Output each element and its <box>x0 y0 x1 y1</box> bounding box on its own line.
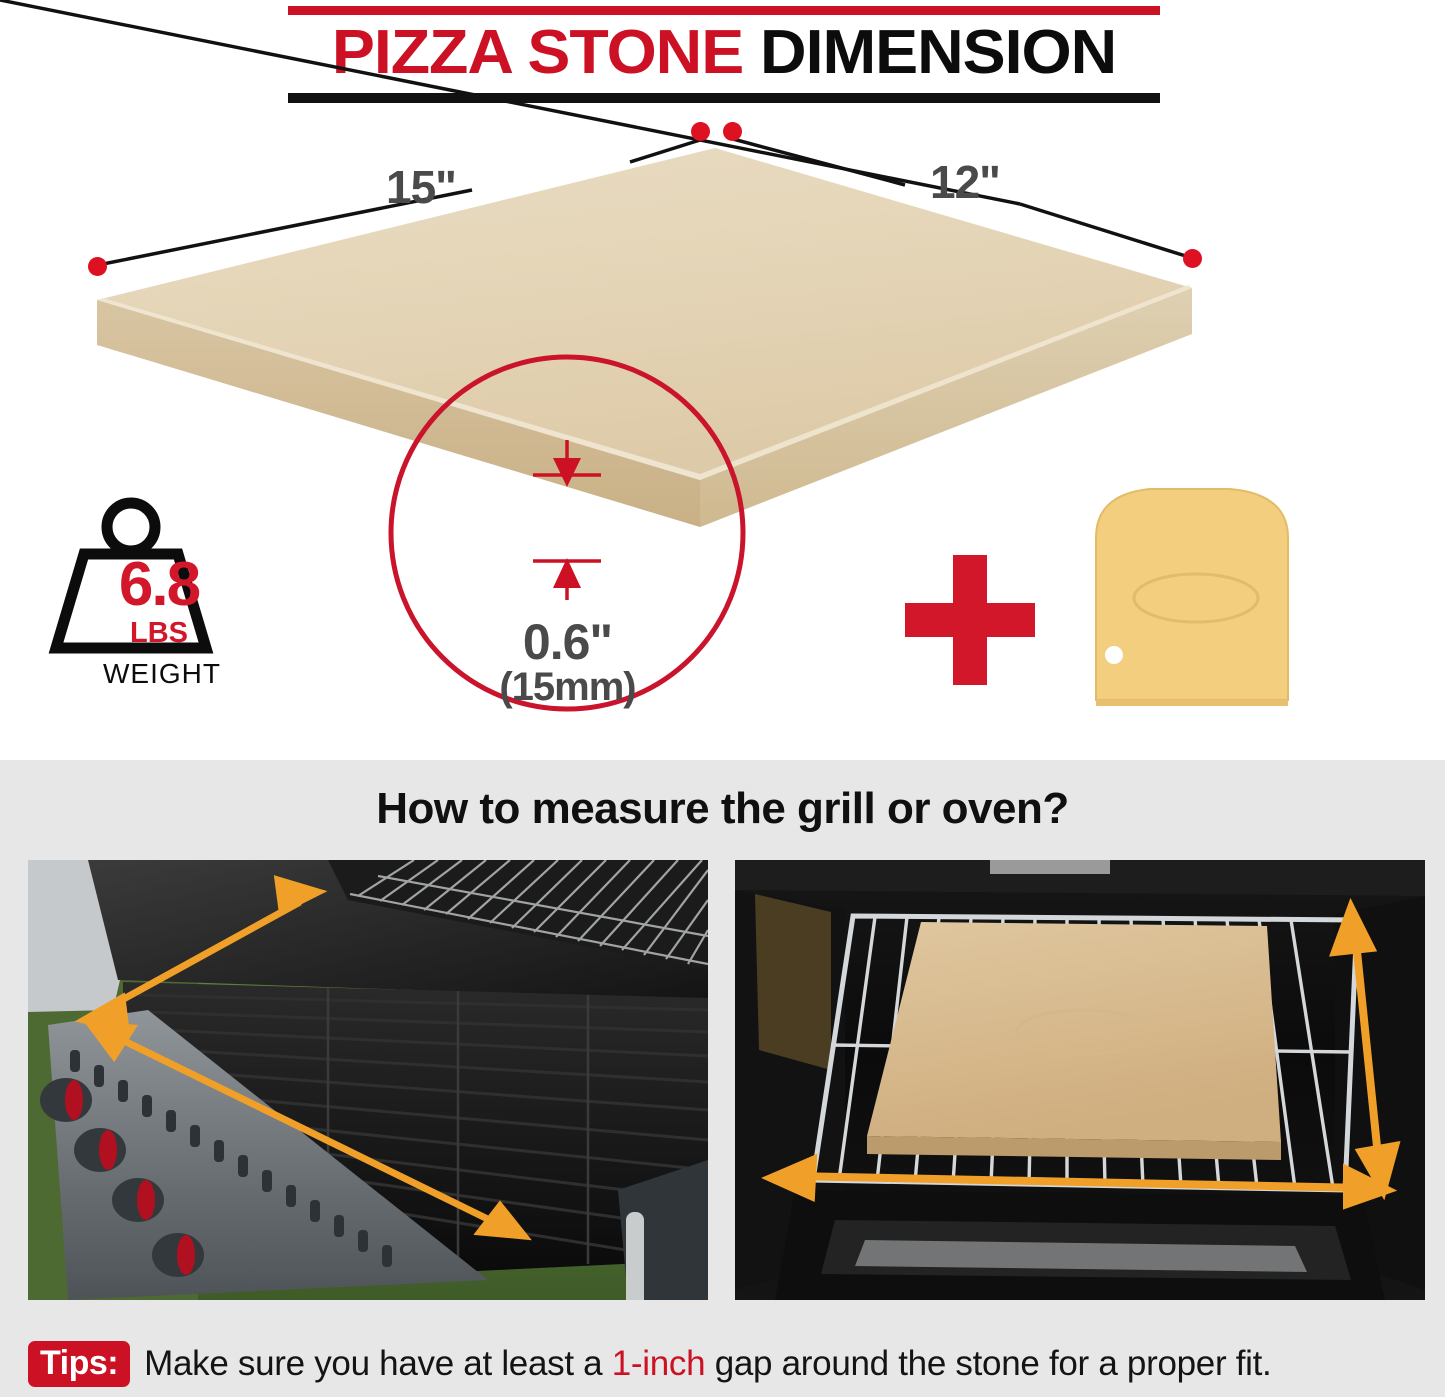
weight-caption: WEIGHT <box>66 658 258 690</box>
tips-text-after: gap around the stone for a proper fit. <box>705 1344 1271 1383</box>
grill-photo <box>28 860 708 1300</box>
tips-badge: Tips: <box>28 1341 130 1387</box>
weight-badge: 6.8 LBS WEIGHT <box>66 505 266 695</box>
width-endpoint-dot-left <box>723 122 742 141</box>
oven-photo <box>735 860 1425 1300</box>
dough-scraper-icon <box>1096 489 1288 706</box>
thickness-mm-label: (15mm) <box>445 665 690 710</box>
dimension-section: PIZZA STONE DIMENSION <box>0 0 1445 760</box>
tips-highlight: 1-inch <box>612 1344 706 1383</box>
width-leader-line-right-a <box>0 0 1020 204</box>
length-endpoint-dot-right <box>691 122 710 141</box>
width-endpoint-dot-right <box>1183 249 1202 268</box>
tips-text: Make sure you have at least a 1-inch gap… <box>144 1344 1271 1384</box>
weight-unit: LBS <box>66 617 252 650</box>
tips-text-before: Make sure you have at least a <box>144 1344 612 1383</box>
oven-pizza-stone <box>867 922 1281 1160</box>
length-dimension-label: 15" <box>386 160 456 214</box>
width-dimension-label: 12" <box>930 155 1000 209</box>
weight-value: 6.8 <box>66 555 252 615</box>
tips-bar: Tips: Make sure you have at least a 1-in… <box>0 1330 1445 1397</box>
howto-heading: How to measure the grill or oven? <box>0 784 1445 834</box>
thickness-inches-label: 0.6" <box>445 613 690 671</box>
length-endpoint-dot-left <box>88 257 107 276</box>
how-to-measure-section: How to measure the grill or oven? <box>0 760 1445 1397</box>
plus-icon <box>905 555 1035 685</box>
